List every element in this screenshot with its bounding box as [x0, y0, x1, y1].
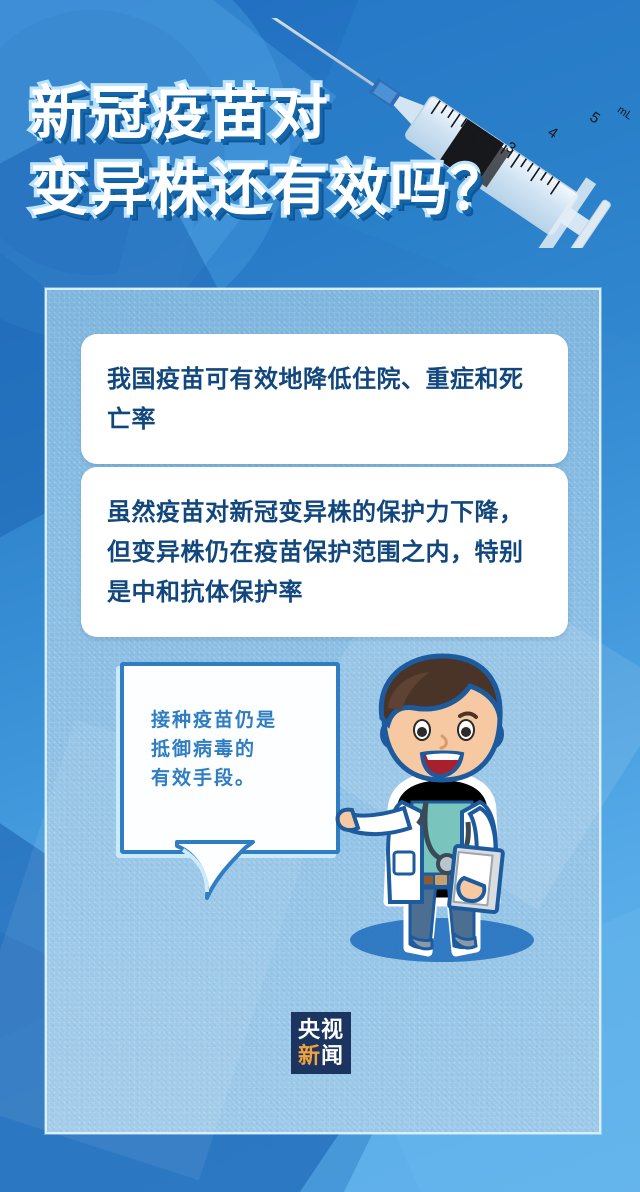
speech-bubble-line-1: 接种疫苗仍是: [151, 706, 324, 735]
speech-bubble-line-2: 抵御病毒的: [151, 735, 324, 764]
info-card-hospitalization: 我国疫苗可有效地降低住院、重症和死亡率: [81, 334, 568, 464]
doctor-shadow: [350, 918, 534, 962]
poster-headline: 新冠疫苗对 变异株还有效吗？: [30, 78, 590, 226]
speech-bubble-text: 接种疫苗仍是 抵御病毒的 有效手段。: [151, 706, 324, 793]
syringe-unit-label: mL: [615, 104, 630, 122]
cctv-news-logo: 央视 新闻: [291, 1012, 351, 1074]
logo-text-bottom: 新闻: [291, 1045, 351, 1067]
speech-bubble-line-3: 有效手段。: [151, 764, 324, 793]
logo-text-wen: 闻: [321, 1043, 344, 1068]
headline-line-2: 变异株还有效吗？: [30, 154, 590, 226]
info-card-2-text: 虽然疫苗对新冠变异株的保护力下降，但变异株仍在疫苗保护范围之内，特别是中和抗体保…: [107, 493, 542, 613]
info-card-1-text: 我国疫苗可有效地降低住院、重症和死亡率: [107, 360, 542, 440]
speech-bubble-tail-icon: [175, 840, 285, 902]
info-card-variant-protection: 虽然疫苗对新冠变异株的保护力下降，但变异株仍在疫苗保护范围之内，特别是中和抗体保…: [81, 467, 568, 637]
doctor-character-illustration: [330, 652, 550, 972]
infographic-poster: 3 4 5 mL 新冠疫苗对 变异株还有效吗？ 我国疫苗可有效地降低住院、重症和…: [0, 0, 640, 1192]
speech-bubble-box: 接种疫苗仍是 抵御病毒的 有效手段。: [120, 662, 340, 854]
logo-text-xin: 新: [298, 1043, 321, 1068]
speech-bubble: 接种疫苗仍是 抵御病毒的 有效手段。: [120, 662, 332, 877]
logo-text-top: 央视: [291, 1019, 351, 1041]
headline-line-1: 新冠疫苗对: [30, 78, 590, 150]
